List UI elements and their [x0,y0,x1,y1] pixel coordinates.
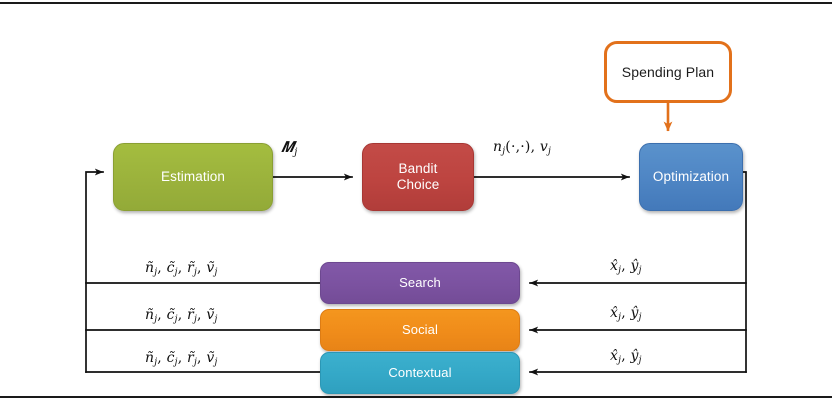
node-bandit-choice-label: Bandit Choice [397,161,440,193]
node-estimation[interactable]: Estimation [113,143,273,211]
node-channel-contextual-label: Contextual [388,365,451,380]
fb-r: r̃ [187,260,194,276]
node-optimization[interactable]: Optimization [639,143,743,211]
diagram-canvas: Spending Plan Estimation Bandit Choice O… [0,0,832,401]
edge-label-allocation-search: x̂j, ŷj [610,258,642,276]
edge-label-allocation-social: x̂j, ŷj [610,305,642,323]
edge-label-bandit-to-optimization: nj(·,·), vj [493,139,551,157]
nv-v-sub: j [548,146,551,157]
node-channel-contextual[interactable]: Contextual [320,352,520,394]
edge-label-estimation-to-bandit: 𝑴j [281,138,298,158]
fb-n: ñ [145,260,154,276]
nv-n: n [493,139,502,155]
node-bandit-choice[interactable]: Bandit Choice [362,143,474,211]
xy-x: x̂ [610,258,618,274]
nv-v: v [540,139,548,155]
edge-label-feedback-search: ñj, c̃j, r̃j, ṽj [145,260,218,278]
edge-label-m-subscript: j [294,147,297,158]
edge-label-feedback-social: ñj, c̃j, r̃j, ṽj [145,307,218,325]
bottom-border-rule [0,396,832,398]
wire-left-bus-to-estimation [86,172,103,372]
xy-y: ŷ [631,258,639,274]
node-spending-plan-label: Spending Plan [622,64,714,81]
node-spending-plan[interactable]: Spending Plan [604,41,732,103]
edge-label-allocation-contextual: x̂j, ŷj [610,348,642,366]
edge-label-feedback-contextual: ñj, c̃j, r̃j, ṽj [145,350,218,368]
fb-c: c̃ [167,260,175,276]
node-estimation-label: Estimation [161,169,225,185]
nv-mid: (·,·), [505,139,535,155]
node-optimization-label: Optimization [653,169,729,185]
node-channel-search[interactable]: Search [320,262,520,304]
node-channel-social-label: Social [402,322,438,337]
node-channel-social[interactable]: Social [320,309,520,351]
top-border-rule [0,2,832,4]
node-channel-search-label: Search [399,275,441,290]
